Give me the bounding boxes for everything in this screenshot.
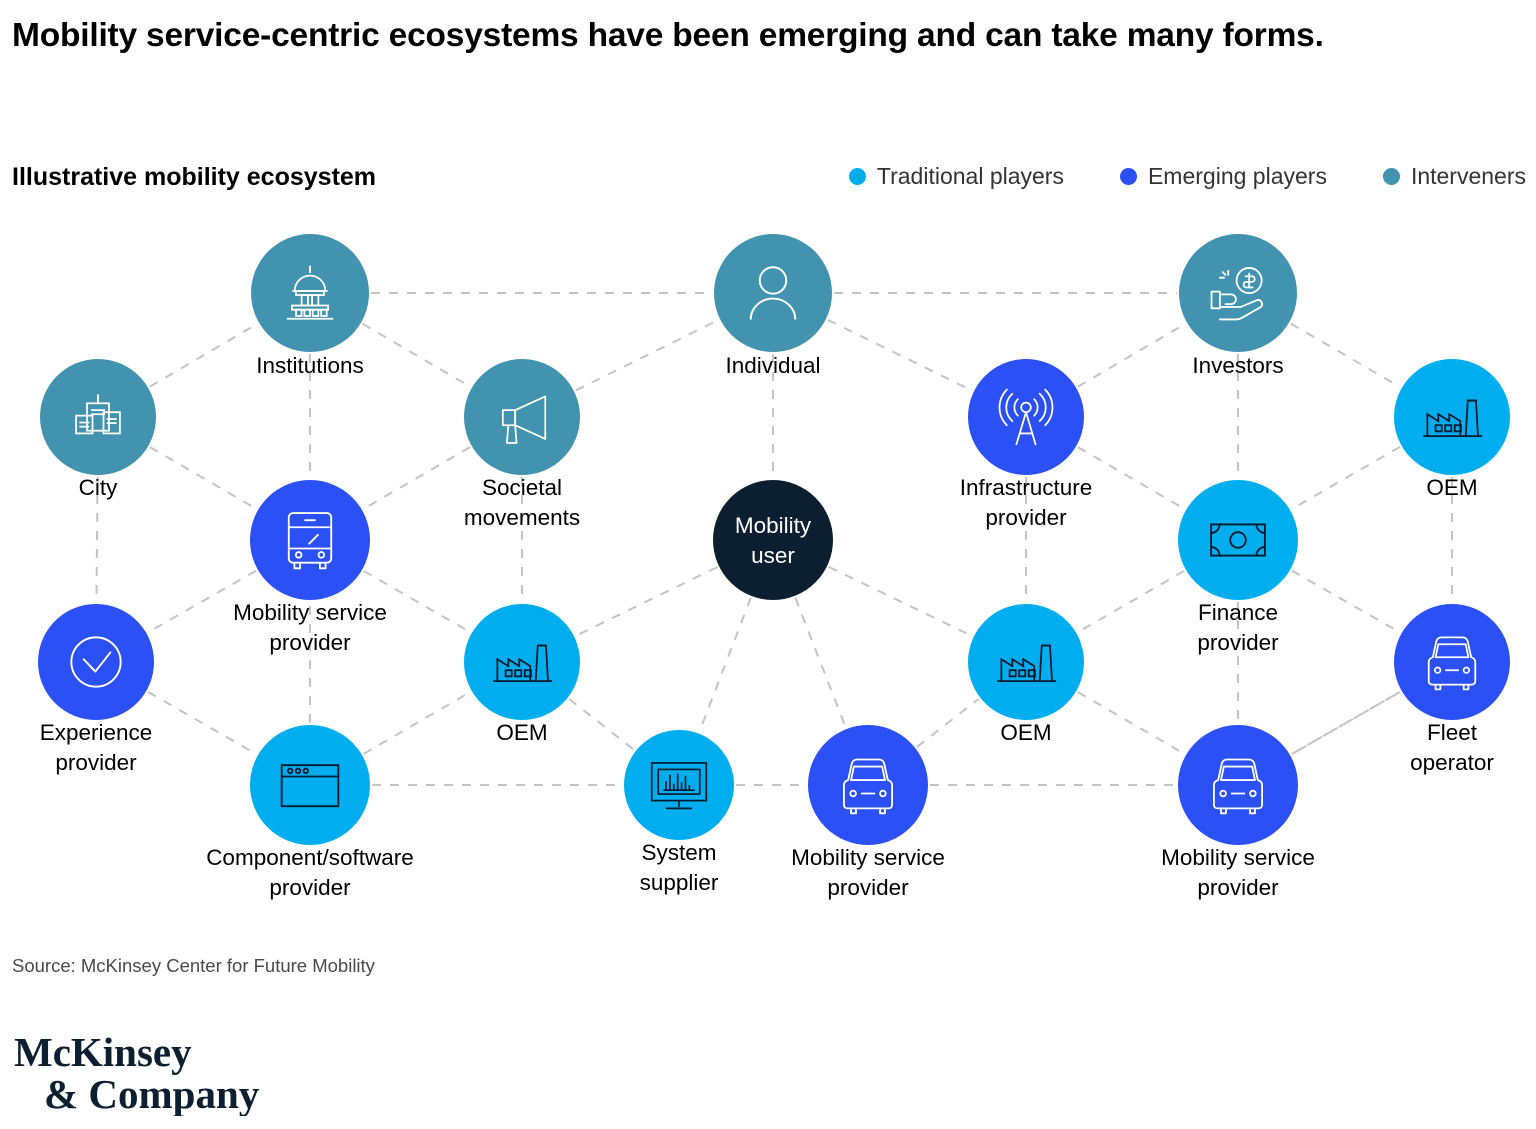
ecosystem-network-diagram: CityInstitutionsSocietalmovementsIndivid… <box>0 205 1536 935</box>
edge-finance-to-oem_mid_right <box>1078 571 1184 632</box>
node-infrastructure[interactable]: Infrastructureprovider <box>960 359 1093 530</box>
node-investors[interactable]: Investors <box>1179 234 1297 378</box>
node-circle[interactable] <box>624 730 734 840</box>
node-label: Component/softwareprovider <box>206 845 414 900</box>
node-mobility_user[interactable]: Mobilityuser <box>713 480 833 600</box>
node-circle[interactable] <box>1178 480 1298 600</box>
node-fleet[interactable]: Fleetoperator <box>1394 604 1510 775</box>
node-label: OEM <box>496 720 547 745</box>
edge-investors-to-oem_right_top <box>1291 324 1400 387</box>
node-system_supplier[interactable]: Systemsupplier <box>624 730 734 895</box>
edge-city-to-msp_left <box>150 447 256 509</box>
legend-item-interveners: Interveners <box>1383 163 1526 190</box>
node-label: City <box>79 475 118 500</box>
node-circle[interactable] <box>250 480 370 600</box>
node-circle[interactable] <box>251 234 369 352</box>
node-oem_mid_right[interactable]: OEM <box>968 604 1084 745</box>
node-circle[interactable] <box>38 604 154 720</box>
legend-item-traditional: Traditional players <box>849 163 1064 190</box>
edge-oem_mid_right-to-msp_right <box>1078 692 1184 754</box>
edge-societal-to-individual <box>576 320 719 390</box>
node-label: Mobility serviceprovider <box>791 845 945 900</box>
edge-oem_right_top-to-finance <box>1292 447 1400 509</box>
edge-component-to-oem_mid_left <box>364 692 470 754</box>
node-component[interactable]: Component/softwareprovider <box>206 725 414 900</box>
node-label: Mobility serviceprovider <box>1161 845 1315 900</box>
node-circle[interactable] <box>1179 234 1297 352</box>
edge-oem_mid_left-to-system_supplier <box>569 699 634 750</box>
node-experience[interactable]: Experienceprovider <box>38 604 154 775</box>
legend-item-emerging: Emerging players <box>1120 163 1327 190</box>
edge-individual-to-infrastructure <box>828 320 972 391</box>
edge-mobility_user-to-oem_mid_left <box>576 567 717 636</box>
edge-finance-to-fleet <box>1292 571 1400 633</box>
node-label: Individual <box>725 353 820 378</box>
node-circle[interactable] <box>40 359 156 475</box>
mckinsey-logo: McKinsey & Company <box>14 1030 264 1116</box>
legend-label: Emerging players <box>1148 163 1327 190</box>
edge-infrastructure-to-finance <box>1078 447 1184 509</box>
nodes-layer: CityInstitutionsSocietalmovementsIndivid… <box>38 234 1510 900</box>
source-note: Source: McKinsey Center for Future Mobil… <box>12 955 375 977</box>
node-label: Fleetoperator <box>1410 720 1494 775</box>
edge-mobility_user-to-oem_mid_right <box>829 567 972 636</box>
node-label: Systemsupplier <box>640 840 719 895</box>
node-circle[interactable] <box>1178 725 1298 845</box>
circle-dot-icon <box>1383 168 1400 185</box>
node-oem_mid_left[interactable]: OEM <box>464 604 580 745</box>
node-label: OEM <box>1000 720 1051 745</box>
circle-dot-icon <box>1120 168 1137 185</box>
logo-line-2: & Company <box>44 1071 260 1116</box>
logo-line-1: McKinsey <box>14 1030 192 1075</box>
page-title: Mobility service-centric ecosystems have… <box>12 14 1432 59</box>
edge-mobility_user-to-system_supplier <box>699 598 750 732</box>
node-societal[interactable]: Societalmovements <box>464 359 580 530</box>
node-circle[interactable] <box>250 725 370 845</box>
edge-infrastructure-to-investors <box>1078 324 1186 387</box>
node-circle[interactable] <box>713 480 833 600</box>
edge-city-to-institutions <box>150 324 258 387</box>
node-msp_right[interactable]: Mobility serviceprovider <box>1161 725 1315 900</box>
circle-dot-icon <box>849 168 866 185</box>
node-circle[interactable] <box>808 725 928 845</box>
edge-societal-to-msp_left <box>364 447 470 509</box>
node-circle[interactable] <box>968 359 1084 475</box>
edge-msp_mid-to-oem_mid_right <box>917 699 979 747</box>
node-label: Investors <box>1192 353 1283 378</box>
node-label: Institutions <box>256 353 364 378</box>
node-msp_mid[interactable]: Mobility serviceprovider <box>791 725 945 900</box>
node-oem_right_top[interactable]: OEM <box>1394 359 1510 500</box>
node-individual[interactable]: Individual <box>714 234 832 378</box>
node-city[interactable]: City <box>40 359 156 500</box>
legend: Traditional players Emerging players Int… <box>849 163 1526 190</box>
edge-mobility_user-to-msp_mid <box>795 598 845 727</box>
node-label: Experienceprovider <box>40 720 153 775</box>
edge-institutions-to-societal <box>363 324 471 387</box>
legend-label: Traditional players <box>877 163 1064 190</box>
node-label: OEM <box>1426 475 1477 500</box>
node-institutions[interactable]: Institutions <box>251 234 369 378</box>
chart-subtitle: Illustrative mobility ecosystem <box>12 163 376 192</box>
edge-experience-to-component <box>148 692 256 754</box>
legend-label: Interveners <box>1411 163 1526 190</box>
node-circle[interactable] <box>1394 604 1510 720</box>
node-circle[interactable] <box>464 359 580 475</box>
